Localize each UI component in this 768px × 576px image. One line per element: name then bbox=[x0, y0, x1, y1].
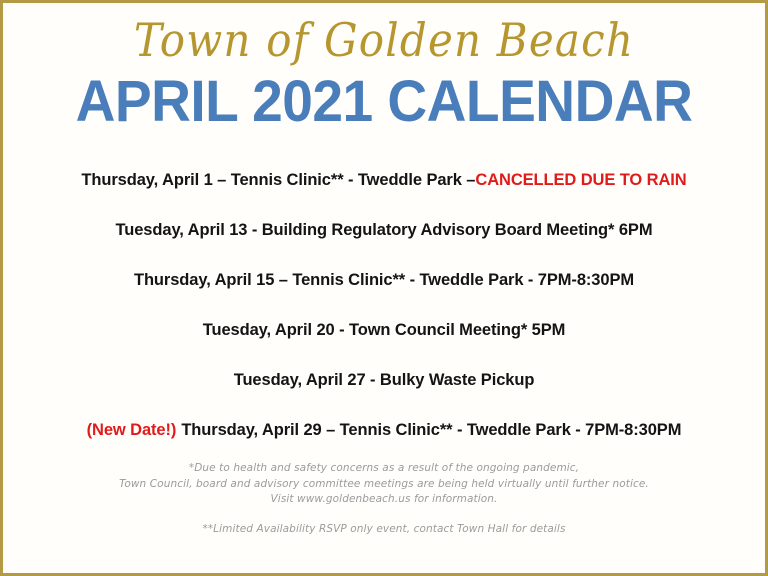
footnote-primary-line: Town Council, board and advisory committ… bbox=[3, 477, 765, 493]
town-name-title: Town of Golden Beach bbox=[3, 17, 765, 65]
event-text: Thursday, April 1 – Tennis Clinic** - Tw… bbox=[81, 172, 475, 189]
flyer-header: Town of Golden Beach APRIL 2021 CALENDAR bbox=[3, 3, 765, 125]
event-text: Tuesday, April 20 - Town Council Meeting… bbox=[203, 322, 566, 339]
event-line: Tuesday, April 27 - Bulky Waste Pickup bbox=[3, 355, 765, 405]
event-text: Tuesday, April 27 - Bulky Waste Pickup bbox=[234, 372, 535, 389]
footnote-secondary-line: **Limited Availability RSVP only event, … bbox=[3, 522, 765, 538]
event-line: Thursday, April 15 – Tennis Clinic** - T… bbox=[3, 255, 765, 305]
footnote-secondary: **Limited Availability RSVP only event, … bbox=[3, 522, 765, 538]
page-title: APRIL 2021 CALENDAR bbox=[0, 73, 768, 131]
calendar-flyer: Town of Golden Beach APRIL 2021 CALENDAR… bbox=[0, 0, 768, 576]
footnotes: *Due to health and safety concerns as a … bbox=[3, 461, 765, 537]
event-text: Tuesday, April 13 - Building Regulatory … bbox=[116, 222, 653, 239]
event-status-note: CANCELLED DUE TO RAIN bbox=[475, 172, 686, 189]
event-line: (New Date!)Thursday, April 29 – Tennis C… bbox=[3, 405, 765, 455]
footnote-primary-line: *Due to health and safety concerns as a … bbox=[3, 461, 765, 477]
event-text: Thursday, April 29 – Tennis Clinic** - T… bbox=[181, 422, 681, 439]
event-new-date-badge: (New Date!) bbox=[87, 422, 177, 439]
event-line: Tuesday, April 20 - Town Council Meeting… bbox=[3, 305, 765, 355]
event-text: Thursday, April 15 – Tennis Clinic** - T… bbox=[134, 272, 634, 289]
event-list: Thursday, April 1 – Tennis Clinic** - Tw… bbox=[3, 155, 765, 455]
event-line: Tuesday, April 13 - Building Regulatory … bbox=[3, 205, 765, 255]
event-line: Thursday, April 1 – Tennis Clinic** - Tw… bbox=[3, 155, 765, 205]
footnote-primary: *Due to health and safety concerns as a … bbox=[3, 461, 765, 508]
footnote-primary-line: Visit www.goldenbeach.us for information… bbox=[3, 492, 765, 508]
